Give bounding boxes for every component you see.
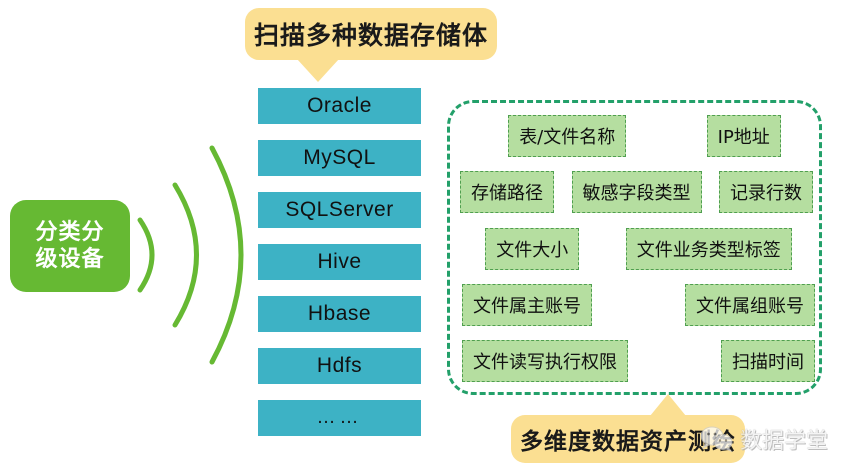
datasource-item[interactable]: SQLServer bbox=[258, 192, 421, 228]
watermark-text: 数据学堂 bbox=[740, 423, 828, 455]
device-label-line1: 分类分 bbox=[35, 219, 104, 247]
attribute-chip[interactable]: IP地址 bbox=[707, 115, 781, 157]
callout-asset-mapping-tail bbox=[650, 394, 686, 416]
callout-scan-storage-tail bbox=[297, 59, 339, 82]
attribute-chip[interactable]: 文件业务类型标签 bbox=[626, 228, 792, 270]
asset-attributes-panel: 表/文件名称 IP地址 存储路径 敏感字段类型 记录行数 文件大小 文件业务类型… bbox=[447, 100, 822, 395]
callout-scan-storage: 扫描多种数据存储体 bbox=[245, 8, 497, 60]
attribute-chip[interactable]: 文件属主账号 bbox=[462, 284, 592, 326]
wechat-icon bbox=[700, 425, 734, 453]
attribute-row: 文件属主账号 文件属组账号 bbox=[458, 284, 819, 326]
datasource-item[interactable]: Hive bbox=[258, 244, 421, 280]
datasource-item[interactable]: Oracle bbox=[258, 88, 421, 124]
callout-scan-storage-label: 扫描多种数据存储体 bbox=[254, 16, 488, 52]
diagram-canvas: 扫描多种数据存储体 分类分 级设备 Oracle MySQL SQLServer… bbox=[0, 0, 868, 473]
datasource-list: Oracle MySQL SQLServer Hive Hbase Hdfs …… bbox=[258, 88, 421, 452]
attribute-row: 存储路径 敏感字段类型 记录行数 bbox=[458, 171, 815, 213]
attribute-chip[interactable]: 记录行数 bbox=[719, 171, 813, 213]
watermark: 数据学堂 bbox=[700, 423, 828, 455]
device-label-line2: 级设备 bbox=[35, 246, 104, 274]
classification-device-box: 分类分 级设备 bbox=[10, 200, 130, 292]
attribute-chip[interactable]: 文件属组账号 bbox=[685, 284, 815, 326]
attribute-chip[interactable]: 文件读写执行权限 bbox=[462, 340, 628, 382]
datasource-item[interactable]: Hdfs bbox=[258, 348, 421, 384]
attribute-row: 文件大小 文件业务类型标签 bbox=[458, 228, 819, 270]
datasource-item[interactable]: Hbase bbox=[258, 296, 421, 332]
attribute-row: 文件读写执行权限 扫描时间 bbox=[458, 340, 819, 382]
attribute-chip[interactable]: 表/文件名称 bbox=[508, 115, 626, 157]
attribute-chip[interactable]: 存储路径 bbox=[460, 171, 554, 213]
attribute-chip[interactable]: 扫描时间 bbox=[721, 340, 815, 382]
signal-waves-icon bbox=[130, 130, 260, 380]
attribute-row: 表/文件名称 IP地址 bbox=[458, 115, 831, 157]
datasource-item[interactable]: MySQL bbox=[258, 140, 421, 176]
attribute-chip[interactable]: 敏感字段类型 bbox=[572, 171, 702, 213]
attribute-chip[interactable]: 文件大小 bbox=[485, 228, 579, 270]
datasource-item-more[interactable]: …… bbox=[258, 400, 421, 436]
